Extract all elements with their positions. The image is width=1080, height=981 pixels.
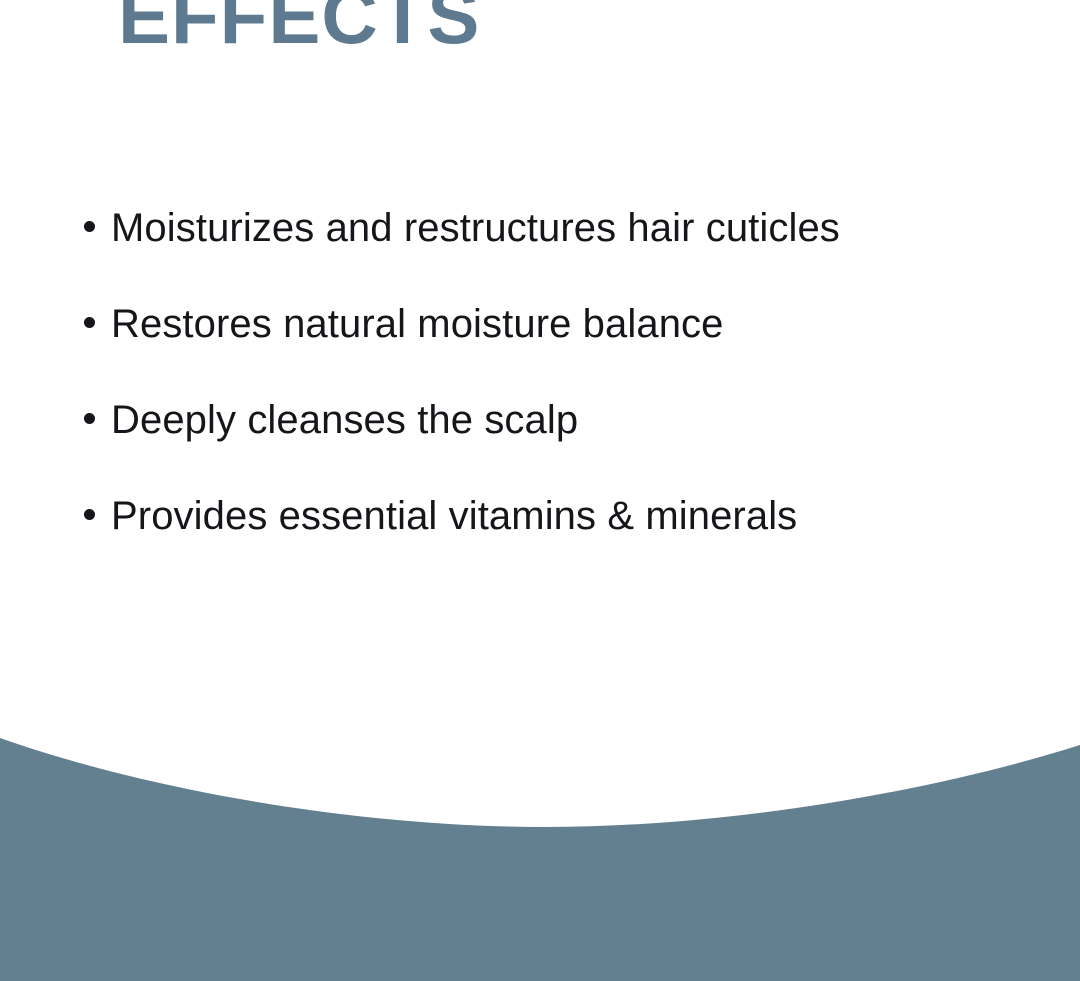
bullet-icon [84,317,95,328]
list-item: Moisturizes and restructures hair cuticl… [80,208,1040,304]
bullet-icon [84,413,95,424]
list-item: Deeply cleanses the scalp [80,400,1040,496]
list-item: Provides essential vitamins & minerals [80,496,1040,592]
list-item-label: Moisturizes and restructures hair cuticl… [111,208,840,248]
bottom-curve-shape [0,738,1080,981]
list-item-label: Restores natural moisture balance [111,304,724,344]
list-item: Restores natural moisture balance [80,304,1040,400]
effects-list: Moisturizes and restructures hair cuticl… [80,208,1040,592]
bullet-icon [84,221,95,232]
bottom-wave-decoration [0,731,1080,981]
list-item-label: Deeply cleanses the scalp [111,400,578,440]
list-item-label: Provides essential vitamins & minerals [111,496,797,536]
effects-panel: EFFECTS Moisturizes and restructures hai… [0,0,1080,981]
bullet-icon [84,509,95,520]
page-title: EFFECTS [118,0,480,58]
